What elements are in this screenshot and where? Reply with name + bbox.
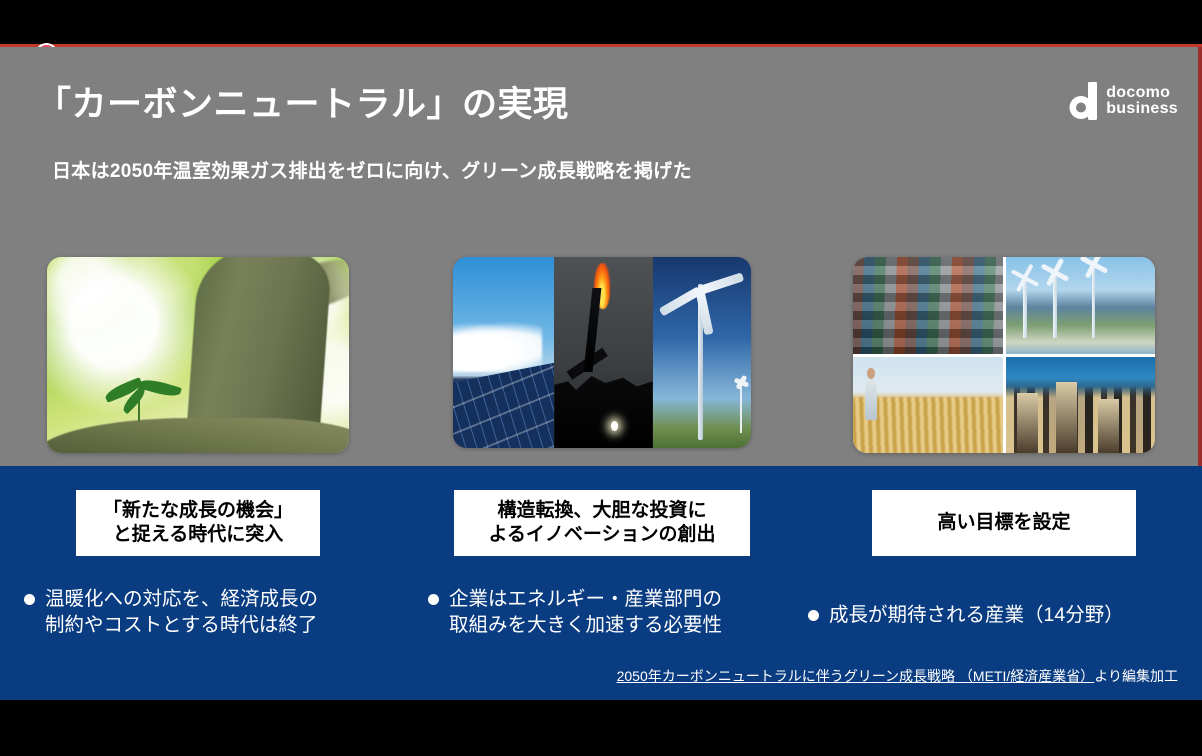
logo-line-2: business bbox=[1106, 101, 1178, 117]
building bbox=[1017, 393, 1038, 453]
image-card-tree-sprout bbox=[47, 257, 349, 453]
label-text-column-2: 構造転換、大胆な投資に よるイノベーションの創出 bbox=[488, 499, 715, 547]
bullet-text-column-3: 成長が期待される産業（14分野） bbox=[829, 602, 1124, 628]
wheat-field-photo bbox=[853, 357, 1003, 454]
distant-turbine bbox=[740, 383, 742, 433]
source-citation: 2050年カーボンニュートラルに伴うグリーン成長戦略 （METI/経済産業省）よ… bbox=[617, 666, 1178, 686]
label-box-column-2: 構造転換、大胆な投資に よるイノベーションの創出 bbox=[454, 490, 750, 556]
bullet-dot-icon bbox=[428, 594, 439, 605]
industry-grid-photo bbox=[853, 257, 1155, 453]
bullet-dot-icon bbox=[808, 610, 819, 621]
label-text-column-3: 高い目標を設定 bbox=[937, 511, 1070, 535]
turbine bbox=[1053, 272, 1056, 338]
city-skyline-photo bbox=[1006, 357, 1156, 454]
wind-farm-photo bbox=[1006, 257, 1156, 354]
wind-turbine-photo bbox=[653, 257, 751, 448]
bullet-item-column-1: 温暖化への対応を、経済成長の 制約やコストとする時代は終了 bbox=[24, 586, 414, 639]
bullet-item-column-2: 企業はエネルギー・産業部門の 取組みを大きく加速する必要性 bbox=[428, 586, 828, 639]
page-subtitle: 日本は2050年温室効果ガス排出をゼロに向け、グリーン成長戦略を掲げた bbox=[52, 156, 692, 183]
triptych-panels bbox=[453, 257, 751, 448]
building bbox=[1098, 399, 1119, 453]
bullet-text-column-1: 温暖化への対応を、経済成長の 制約やコストとする時代は終了 bbox=[45, 586, 318, 639]
shipping-containers-photo bbox=[853, 257, 1003, 354]
industry-quad-grid bbox=[853, 257, 1155, 453]
image-card-energy-triptych bbox=[453, 257, 751, 448]
sprout-leaf bbox=[138, 377, 182, 400]
label-box-column-3: 高い目標を設定 bbox=[872, 490, 1136, 556]
building bbox=[1056, 382, 1077, 453]
image-card-industry-grid bbox=[853, 257, 1155, 453]
source-suffix: より編集加工 bbox=[1094, 668, 1178, 684]
bullet-text-column-2: 企業はエネルギー・産業部門の 取組みを大きく加速する必要性 bbox=[449, 586, 722, 639]
turbine-blade bbox=[699, 272, 745, 294]
solar-array bbox=[453, 359, 554, 448]
energy-triptych-photo bbox=[453, 257, 751, 448]
turbine bbox=[1092, 265, 1095, 338]
logo-wordmark: docomo business bbox=[1106, 85, 1178, 117]
docomo-business-logo: docomo business bbox=[1069, 82, 1178, 120]
solar-panel-photo bbox=[453, 257, 554, 448]
farmer-figure bbox=[865, 378, 877, 420]
tree-sprout-photo bbox=[47, 257, 349, 453]
source-link[interactable]: 2050年カーボンニュートラルに伴うグリーン成長戦略 （METI/経済産業省） bbox=[617, 668, 1095, 684]
docomo-d-mark-icon bbox=[1069, 82, 1099, 120]
turbine bbox=[1023, 278, 1026, 338]
page-title: 「カーボンニュートラル」の実現 bbox=[36, 76, 569, 127]
mossy-ground bbox=[47, 418, 349, 453]
cloud bbox=[453, 322, 542, 372]
logo-line-1: docomo bbox=[1106, 85, 1178, 101]
presentation-slide: 「カーボンニュートラル」の実現 日本は2050年温室効果ガス排出をゼロに向け、グ… bbox=[0, 0, 1202, 756]
bottom-black-bar bbox=[0, 700, 1202, 756]
bullet-dot-icon bbox=[24, 594, 35, 605]
label-box-column-1: 「新たな成長の機会」 と捉える時代に突入 bbox=[76, 490, 320, 556]
tree-canopy-bokeh bbox=[47, 257, 349, 453]
oil-rig-flare-photo bbox=[554, 257, 652, 448]
top-black-bar bbox=[0, 0, 1202, 44]
label-text-column-1: 「新たな成長の機会」 と捉える時代に突入 bbox=[103, 499, 293, 547]
bullet-item-column-3: 成長が期待される産業（14分野） bbox=[808, 602, 1188, 628]
